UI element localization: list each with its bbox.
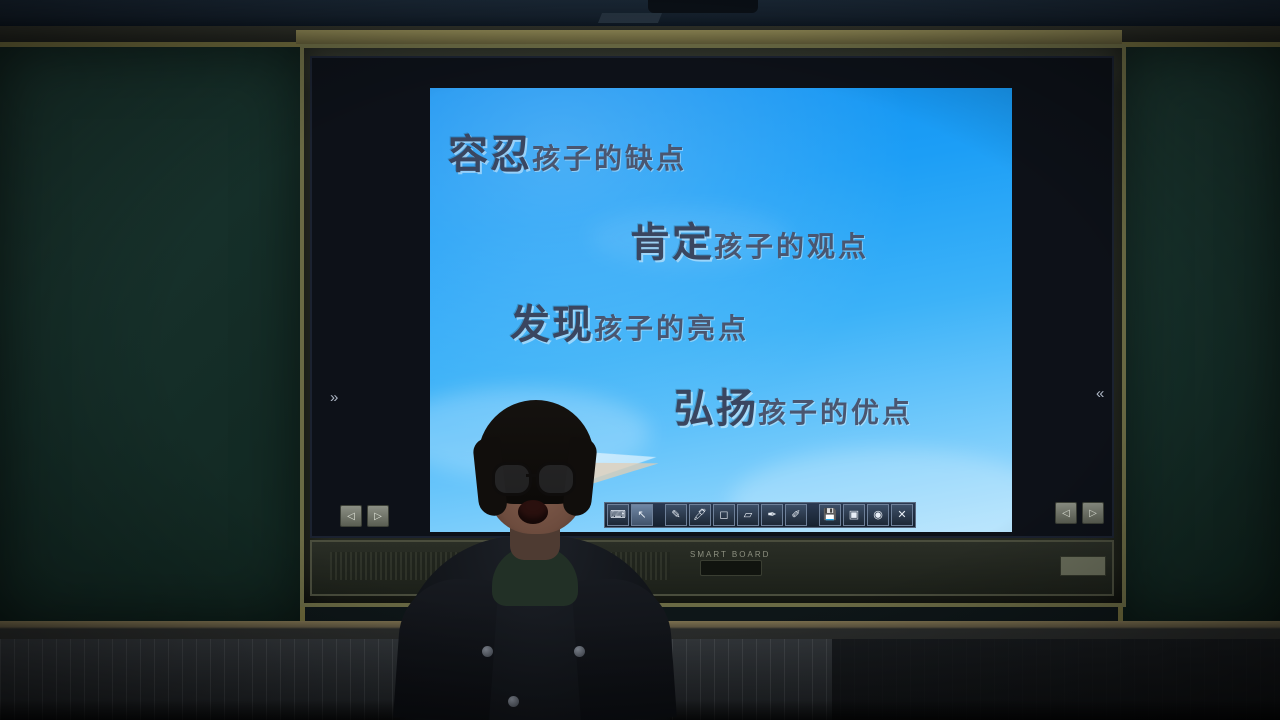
glasses-bridge (526, 474, 538, 477)
marker-icon[interactable]: ✐ (785, 504, 807, 526)
nav-right-prev-icon[interactable]: ◁ (1055, 502, 1077, 524)
slide-line-1: 容忍孩子的缺点 (448, 122, 687, 180)
highlighter-icon[interactable]: 🖊 (689, 504, 711, 526)
toolbar-separator-2 (809, 505, 817, 525)
save-icon[interactable]: 💾 (819, 504, 841, 526)
slide-line-4: 弘扬孩子的优点 (674, 376, 913, 434)
slide-line-2: 肯定孩子的观点 (630, 210, 869, 268)
slide-line-1-rest: 孩子的缺点 (532, 142, 687, 175)
eraser-large-icon[interactable]: ▱ (737, 504, 759, 526)
teacher-right-shoulder (571, 575, 677, 720)
classroom-scene: 容忍孩子的缺点 肯定孩子的观点 发现孩子的亮点 弘扬孩子的优点 ⌨ ↖ ✎ 🖊 … (0, 0, 1280, 720)
nav-right-next-icon[interactable]: ▷ (1082, 502, 1104, 524)
chalkboard-right-panel (1118, 42, 1280, 627)
teacher-figure (400, 396, 670, 720)
brush-icon[interactable]: ✒ (761, 504, 783, 526)
connector-ports (700, 560, 762, 576)
chalkboard-gold-trim (296, 30, 1122, 44)
slide-line-4-emphasis: 弘扬 (674, 385, 758, 432)
slide-line-4-rest: 孩子的优点 (758, 396, 913, 429)
bezel-nav-left[interactable]: ◁ ▷ (340, 505, 389, 527)
bezel-nav-right[interactable]: ◁ ▷ (1055, 502, 1104, 524)
slide-line-2-rest: 孩子的观点 (714, 230, 869, 263)
chalkboard-left-panel (0, 42, 305, 627)
device-brand-label: SMART BOARD (690, 550, 770, 559)
teacher-mouth (518, 500, 548, 524)
ceiling-projector-mount (648, 0, 758, 13)
coat-button-3 (508, 696, 519, 707)
slide-line-1-emphasis: 容忍 (448, 131, 532, 178)
spotlight-icon[interactable]: ◉ (867, 504, 889, 526)
nav-left-prev-icon[interactable]: ◁ (340, 505, 362, 527)
coat-button-1 (482, 646, 493, 657)
coat-button-2 (574, 646, 585, 657)
bezel-left-chevron-icon[interactable]: » (330, 389, 338, 406)
nav-left-next-icon[interactable]: ▷ (367, 505, 389, 527)
bezel-right-chevron-icon[interactable]: « (1096, 385, 1104, 402)
slide-line-3-rest: 孩子的亮点 (594, 312, 749, 345)
side-port-panel (1060, 556, 1106, 576)
window-icon[interactable]: ▣ (843, 504, 865, 526)
glasses-left-lens (492, 462, 532, 496)
slide-line-2-emphasis: 肯定 (630, 219, 714, 266)
slide-line-3-emphasis: 发现 (510, 301, 594, 348)
close-icon[interactable]: ✕ (891, 504, 913, 526)
glasses-right-lens (536, 462, 576, 496)
eraser-icon[interactable]: ◻ (713, 504, 735, 526)
slide-line-3: 发现孩子的亮点 (510, 292, 749, 350)
ceiling-bracket (598, 13, 662, 23)
